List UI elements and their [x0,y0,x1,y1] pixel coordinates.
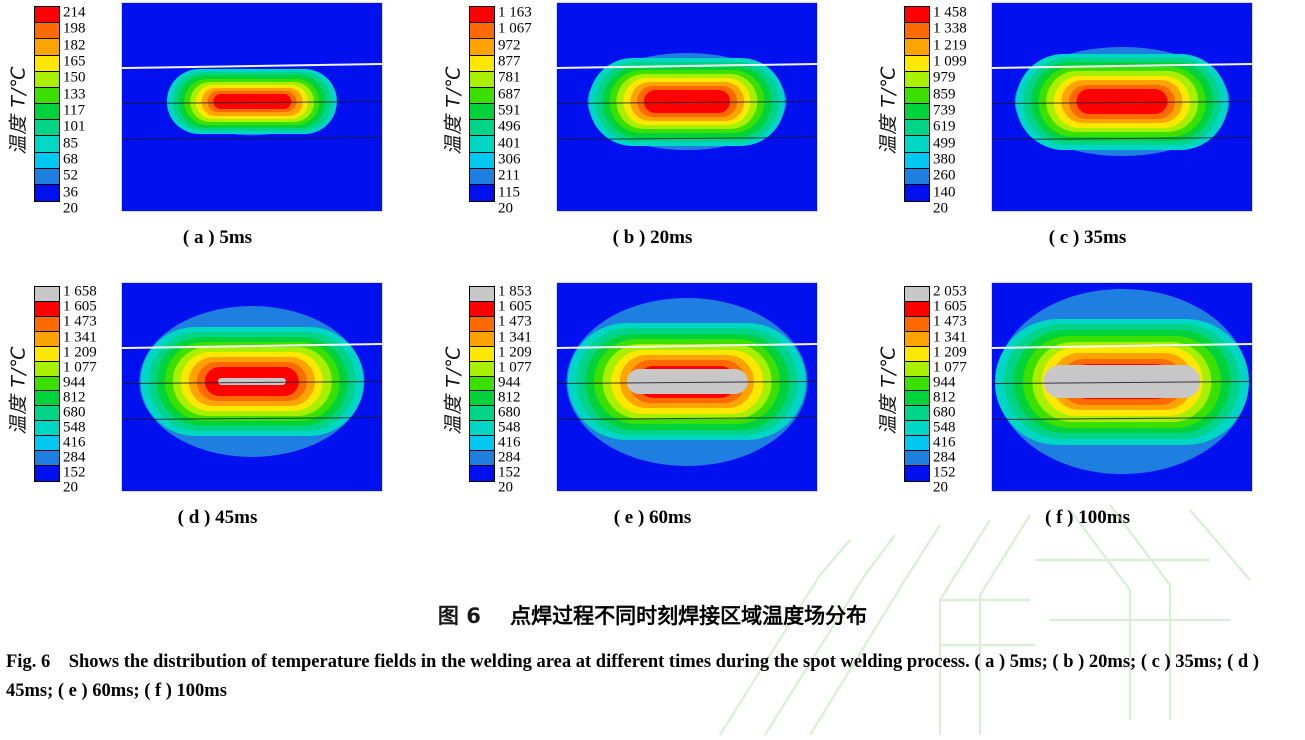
colorbar-tick-label: 1 341 [63,330,97,345]
colorbar-band [35,287,59,302]
colorbar-tick-label: 1 338 [933,22,967,37]
colorbar-tick-label: 20 [63,201,78,216]
colorbar-ticks-c: 1 4581 3381 2191 09997985973961949938026… [933,6,981,202]
colorbar-axis-title-f: 温度 T/℃ [870,282,904,497]
axis-title-text-f: 温度 T/℃ [874,345,901,434]
colorbar-band [905,451,929,466]
figure-panel-grid: 温度 T/℃ 214198182165150133117101856852362… [0,0,1305,590]
colorbar-band [905,169,929,185]
colorbar-tick-label: 1 219 [933,38,967,53]
axis-title-text-c: 温度 T/℃ [874,65,901,154]
colorbar-band [35,466,59,481]
colorbar-tick-label: 85 [63,136,78,151]
contour-plot-d [121,282,383,492]
colorbar-bands-b [469,6,495,202]
colorbar-band [35,436,59,451]
colorbar-band [35,451,59,466]
colorbar-tick-label: 20 [933,201,948,216]
colorbar-tick-label: 1 341 [933,330,967,345]
colorbar-ticks-a: 2141981821651501331171018568523620 [63,6,111,202]
colorbar-band [35,136,59,152]
colorbar-band [905,120,929,136]
colorbar-tick-label: 152 [63,466,86,481]
colorbar-band [35,153,59,169]
panel-row-bottom: 温度 T/℃ 1 6581 6051 4731 3411 2091 077944… [0,282,1305,562]
colorbar-band [470,347,494,362]
colorbar-band [35,169,59,185]
panel-c-body: 温度 T/℃ 1 4581 3381 2191 0999798597396194… [870,2,1305,224]
panel-f-body: 温度 T/℃ 2 0531 6051 4731 3411 2091 077944… [870,282,1305,504]
panel-e-body: 温度 T/℃ 1 8531 6051 4731 3411 2091 077944… [435,282,870,504]
colorbar-tick-label: 680 [63,405,86,420]
colorbar-tick-label: 1 077 [63,360,97,375]
colorbar-band [35,377,59,392]
colorbar-band [470,120,494,136]
colorbar-tick-label: 133 [63,87,86,102]
colorbar-band [470,436,494,451]
colorbar-tick-label: 20 [498,201,513,216]
colorbar-tick-label: 20 [498,481,513,496]
colorbar-tick-label: 972 [498,38,521,53]
colorbar-tick-label: 52 [63,169,78,184]
colorbar-tick-label: 401 [498,136,521,151]
colorbar-band [905,421,929,436]
colorbar-tick-label: 812 [933,390,956,405]
colorbar-band [470,23,494,39]
colorbar-tick-label: 101 [63,120,86,135]
colorbar-band [905,347,929,362]
colorbar-tick-label: 1 605 [498,300,532,315]
panel-caption-f: ( f ) 100ms [870,507,1305,529]
colorbar-tick-label: 1 067 [498,22,532,37]
colorbar-tick-label: 944 [933,375,956,390]
colorbar-band [905,23,929,39]
colorbar-bands-a [34,6,60,202]
colorbar-tick-label: 2 053 [933,285,967,300]
colorbar-axis-title-d: 温度 T/℃ [0,282,34,497]
colorbar-tick-label: 198 [63,22,86,37]
colorbar-tick-label: 548 [63,421,86,436]
colorbar-ticks-e: 1 8531 6051 4731 3411 2091 0779448126805… [498,286,546,482]
axis-title-text-e: 温度 T/℃ [439,345,466,434]
colorbar-tick-label: 1 163 [498,5,532,20]
colorbar-tick-label: 1 341 [498,330,532,345]
colorbar-band [35,347,59,362]
colorbar-band [35,391,59,406]
colorbar-band [35,23,59,39]
colorbar-tick-label: 284 [498,451,521,466]
colorbar-band [35,332,59,347]
colorbar-band [35,317,59,332]
panel-caption-d: ( d ) 45ms [0,507,435,529]
colorbar-band [905,72,929,88]
figure-number-cn: 图 6 [438,604,481,628]
colorbar-tick-label: 1 099 [933,54,967,69]
colorbar-band [470,104,494,120]
colorbar-tick-label: 416 [498,436,521,451]
colorbar-tick-label: 165 [63,54,86,69]
colorbar-band [905,377,929,392]
figure-caption-cn: 图 6 点焊过程不同时刻焊接区域温度场分布 [0,600,1305,630]
colorbar-band [470,136,494,152]
contour-plot-f [991,282,1253,492]
colorbar-tick-label: 1 209 [63,345,97,360]
axis-title-text-a: 温度 T/℃ [4,65,31,154]
colorbar-band [905,302,929,317]
panel-e: 温度 T/℃ 1 8531 6051 4731 3411 2091 077944… [435,282,870,562]
colorbar-tick-label: 548 [933,421,956,436]
colorbar-band [905,332,929,347]
panel-d-body: 温度 T/℃ 1 6581 6051 4731 3411 2091 077944… [0,282,435,504]
colorbar-band [470,88,494,104]
colorbar-tick-label: 36 [63,185,78,200]
colorbar-band [905,287,929,302]
colorbar-band [470,302,494,317]
colorbar-tick-label: 739 [933,103,956,118]
colorbar-tick-label: 944 [498,375,521,390]
colorbar-band [470,153,494,169]
colorbar-band [905,362,929,377]
colorbar-tick-label: 1 473 [498,315,532,330]
colorbar-tick-label: 260 [933,169,956,184]
colorbar-axis-title-e: 温度 T/℃ [435,282,469,497]
colorbar-tick-label: 140 [933,185,956,200]
panel-caption-c: ( c ) 35ms [870,227,1305,249]
colorbar-bands-e [469,286,495,482]
colorbar-axis-title-b: 温度 T/℃ [435,2,469,217]
colorbar-band [35,406,59,421]
colorbar-tick-label: 68 [63,152,78,167]
panel-caption-a: ( a ) 5ms [0,227,435,249]
colorbar-band [905,185,929,201]
colorbar-c: 1 4581 3381 2191 09997985973961949938026… [904,2,981,202]
colorbar-tick-label: 150 [63,71,86,86]
colorbar-a: 2141981821651501331171018568523620 [34,2,111,202]
panel-a: 温度 T/℃ 214198182165150133117101856852362… [0,2,435,282]
panel-b: 温度 T/℃ 1 1631 06797287778168759149640130… [435,2,870,282]
colorbar-band [470,7,494,23]
colorbar-band [35,104,59,120]
colorbar-band [470,332,494,347]
colorbar-tick-label: 680 [498,405,521,420]
axis-title-text-d: 温度 T/℃ [4,345,31,434]
colorbar-tick-label: 1 658 [63,285,97,300]
panel-c: 温度 T/℃ 1 4581 3381 2191 0999798597396194… [870,2,1305,282]
panel-b-body: 温度 T/℃ 1 1631 06797287778168759149640130… [435,2,870,224]
colorbar-tick-label: 1 605 [933,300,967,315]
colorbar-ticks-b: 1 1631 067972877781687591496401306211115… [498,6,546,202]
colorbar-tick-label: 812 [498,390,521,405]
colorbar-tick-label: 117 [63,103,85,118]
colorbar-tick-label: 214 [63,5,86,20]
colorbar-band [905,7,929,23]
colorbar-tick-label: 619 [933,120,956,135]
colorbar-tick-label: 211 [498,169,520,184]
colorbar-b: 1 1631 067972877781687591496401306211115… [469,2,546,202]
colorbar-band [470,377,494,392]
panel-row-top: 温度 T/℃ 214198182165150133117101856852362… [0,2,1305,282]
colorbar-tick-label: 944 [63,375,86,390]
sheet-interface-line [122,63,382,69]
colorbar-band [35,72,59,88]
colorbar-band [470,56,494,72]
colorbar-axis-title-a: 温度 T/℃ [0,2,34,217]
colorbar-band [905,39,929,55]
panel-a-body: 温度 T/℃ 214198182165150133117101856852362… [0,2,435,224]
colorbar-tick-label: 416 [63,436,86,451]
colorbar-tick-label: 1 458 [933,5,967,20]
figure-caption-en: Fig. 6 Shows the distribution of tempera… [6,648,1300,705]
colorbar-band [470,39,494,55]
colorbar-band [35,39,59,55]
contour-plot-c [991,2,1253,212]
colorbar-band [470,466,494,481]
colorbar-axis-title-c: 温度 T/℃ [870,2,904,217]
colorbar-band [470,169,494,185]
colorbar-tick-label: 1 473 [933,315,967,330]
colorbar-tick-label: 548 [498,421,521,436]
colorbar-tick-label: 877 [498,54,521,69]
colorbar-band [905,88,929,104]
colorbar-band [470,421,494,436]
colorbar-band [470,317,494,332]
panel-f: 温度 T/℃ 2 0531 6051 4731 3411 2091 077944… [870,282,1305,562]
contour-plot-b [556,2,818,212]
colorbar-tick-label: 496 [498,120,521,135]
colorbar-tick-label: 152 [498,466,521,481]
colorbar-ticks-d: 1 6581 6051 4731 3411 2091 0779448126805… [63,286,111,482]
colorbar-tick-label: 20 [63,481,78,496]
colorbar-band [470,451,494,466]
colorbar-tick-label: 284 [63,451,86,466]
colorbar-band [35,362,59,377]
colorbar-tick-label: 812 [63,390,86,405]
colorbar-tick-label: 182 [63,38,86,53]
colorbar-tick-label: 687 [498,87,521,102]
colorbar-band [905,391,929,406]
colorbar-band [905,436,929,451]
colorbar-band [35,421,59,436]
colorbar-band [470,406,494,421]
colorbar-band [35,56,59,72]
colorbar-band [470,72,494,88]
colorbar-tick-label: 152 [933,466,956,481]
colorbar-band [905,466,929,481]
colorbar-tick-label: 1 605 [63,300,97,315]
colorbar-band [905,104,929,120]
colorbar-band [905,317,929,332]
panel-caption-b: ( b ) 20ms [435,227,870,249]
colorbar-ticks-f: 2 0531 6051 4731 3411 2091 0779448126805… [933,286,981,482]
colorbar-band [905,406,929,421]
colorbar-band [35,185,59,201]
colorbar-tick-label: 859 [933,87,956,102]
colorbar-tick-label: 306 [498,152,521,167]
colorbar-tick-label: 416 [933,436,956,451]
colorbar-f: 2 0531 6051 4731 3411 2091 0779448126805… [904,282,981,482]
colorbar-band [905,136,929,152]
colorbar-band [35,88,59,104]
colorbar-tick-label: 979 [933,71,956,86]
colorbar-tick-label: 1 209 [933,345,967,360]
colorbar-tick-label: 380 [933,152,956,167]
colorbar-band [35,7,59,23]
colorbar-bands-d [34,286,60,482]
colorbar-band [470,362,494,377]
colorbar-band [905,56,929,72]
figure-caption-cn-text: 点焊过程不同时刻焊接区域温度场分布 [510,604,867,628]
contour-plot-e [556,282,818,492]
colorbar-bands-f [904,286,930,482]
colorbar-tick-label: 499 [933,136,956,151]
colorbar-tick-label: 1 209 [498,345,532,360]
colorbar-band [905,153,929,169]
colorbar-band [470,185,494,201]
panel-d: 温度 T/℃ 1 6581 6051 4731 3411 2091 077944… [0,282,435,562]
colorbar-tick-label: 284 [933,451,956,466]
colorbar-band [470,391,494,406]
figure-caption-en-text: Shows the distribution of temperature fi… [6,652,1259,701]
colorbar-tick-label: 1 077 [933,360,967,375]
colorbar-band [35,302,59,317]
contour-plot-a [121,2,383,212]
colorbar-tick-label: 115 [498,185,520,200]
colorbar-tick-label: 781 [498,71,521,86]
colorbar-tick-label: 680 [933,405,956,420]
colorbar-tick-label: 1 077 [498,360,532,375]
figure-number-en: Fig. 6 [6,652,50,672]
colorbar-band [470,287,494,302]
colorbar-band [35,120,59,136]
panel-caption-e: ( e ) 60ms [435,507,870,529]
colorbar-tick-label: 1 473 [63,315,97,330]
colorbar-d: 1 6581 6051 4731 3411 2091 0779448126805… [34,282,111,482]
colorbar-tick-label: 1 853 [498,285,532,300]
colorbar-tick-label: 20 [933,481,948,496]
colorbar-e: 1 8531 6051 4731 3411 2091 0779448126805… [469,282,546,482]
axis-title-text-b: 温度 T/℃ [439,65,466,154]
colorbar-tick-label: 591 [498,103,521,118]
colorbar-bands-c [904,6,930,202]
